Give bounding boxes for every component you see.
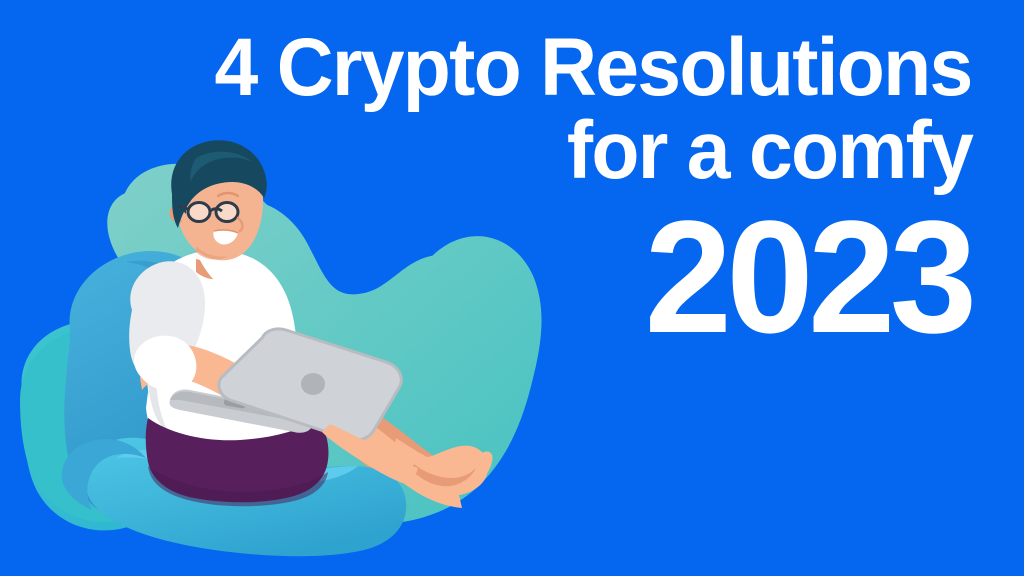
headline-block: 4 Crypto Resolutions for a comfy 2023 xyxy=(0,0,1024,576)
headline-line-1: 4 Crypto Resolutions xyxy=(215,28,972,108)
promo-banner: 4 Crypto Resolutions for a comfy 2023 xyxy=(0,0,1024,576)
headline-line-3: 2023 xyxy=(645,197,972,357)
headline-line-2: for a comfy xyxy=(567,108,972,195)
